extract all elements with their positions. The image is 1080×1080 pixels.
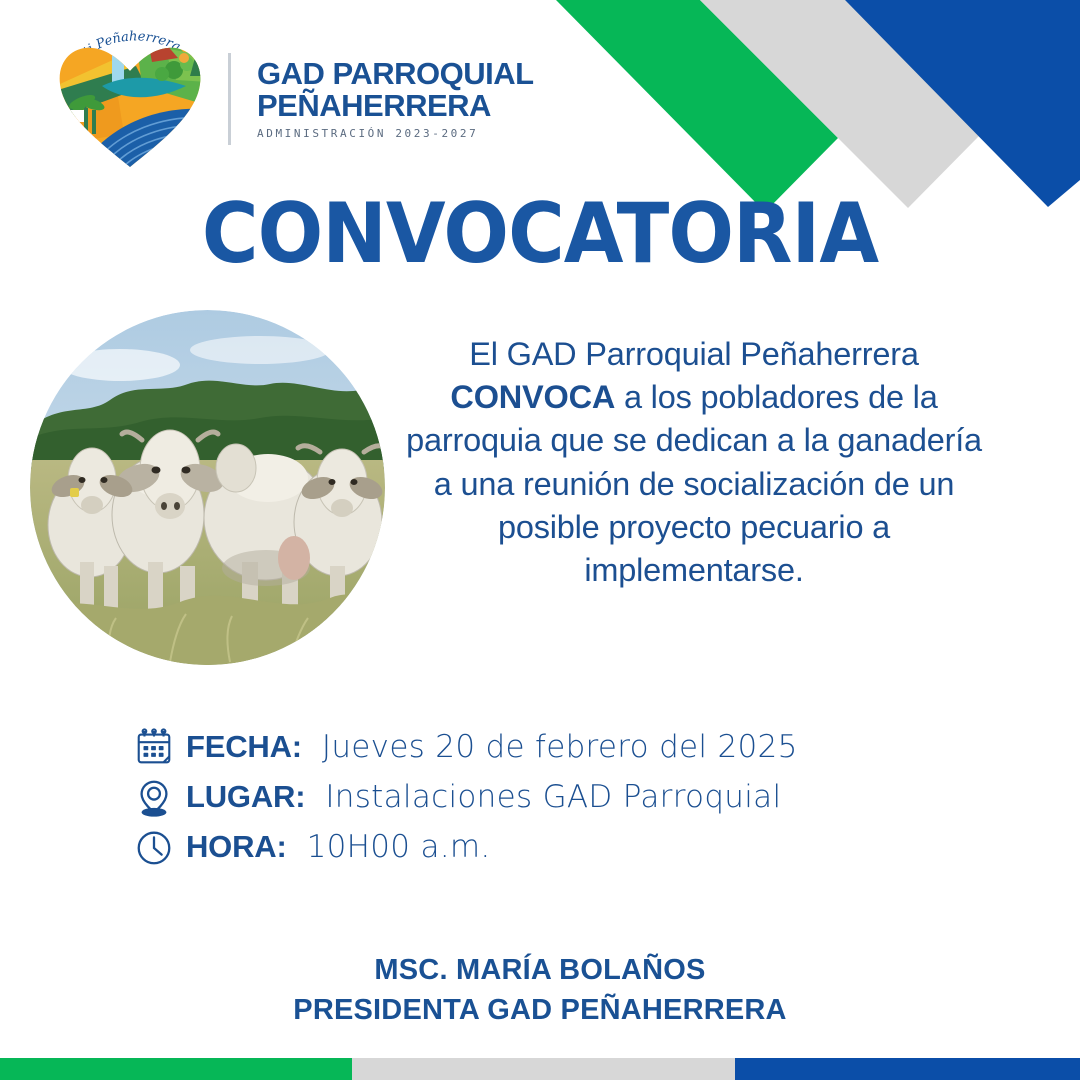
detail-value-fecha: Jueves 20 de febrero del 2025	[322, 729, 798, 765]
bottom-bar-gray-segment	[352, 1058, 735, 1080]
detail-row-lugar: LUGAR: Instalaciones GAD Parroquial	[133, 772, 973, 822]
bottom-bar-blue-segment	[735, 1058, 1080, 1080]
organization-name-block: GAD PARROQUIAL PEÑAHERRERA ADMINISTRACIÓ…	[257, 58, 534, 141]
location-pin-icon	[133, 775, 175, 819]
detail-row-fecha: FECHA: Jueves 20 de febrero del 2025	[133, 722, 973, 772]
event-details-list: FECHA: Jueves 20 de febrero del 2025 LUG…	[133, 722, 973, 872]
paragraph-emphasis: CONVOCA	[450, 379, 615, 415]
peñaherrera-heart-landscape-emblem: Por ti Peñaherrera...	[46, 24, 214, 174]
detail-label-fecha: FECHA:	[186, 729, 302, 765]
cattle-herd-photo	[30, 310, 385, 665]
detail-label-lugar: LUGAR:	[186, 779, 305, 815]
paragraph-part-1: El GAD Parroquial Peñaherrera	[469, 336, 918, 372]
calendar-icon	[133, 725, 175, 769]
org-name-line-1: GAD PARROQUIAL	[257, 58, 534, 90]
org-name-line-2: PEÑAHERRERA	[257, 90, 534, 122]
detail-value-hora: 10H00 a.m.	[307, 829, 491, 865]
page-title: CONVOCATORIA	[38, 185, 1042, 282]
signature-block: MSC. MARÍA BOLAÑOS PRESIDENTA GAD PEÑAHE…	[0, 950, 1080, 1030]
bottom-color-bar	[0, 1058, 1080, 1080]
bottom-bar-green-segment	[0, 1058, 352, 1080]
main-content: El GAD Parroquial Peñaherrera CONVOCA a …	[0, 305, 1080, 685]
detail-value-lugar: Instalaciones GAD Parroquial	[325, 779, 781, 815]
signer-name: MSC. MARÍA BOLAÑOS	[0, 950, 1080, 990]
header-logo-lockup: Por ti Peñaherrera...	[46, 24, 534, 174]
detail-row-hora: HORA: 10H00 a.m.	[133, 822, 973, 872]
logo-divider	[228, 53, 231, 145]
administration-period: ADMINISTRACIÓN 2023-2027	[257, 127, 534, 140]
clock-icon	[133, 825, 175, 869]
signer-role: PRESIDENTA GAD PEÑAHERRERA	[0, 990, 1080, 1030]
detail-label-hora: HORA:	[186, 829, 287, 865]
announcement-paragraph: El GAD Parroquial Peñaherrera CONVOCA a …	[398, 333, 990, 592]
